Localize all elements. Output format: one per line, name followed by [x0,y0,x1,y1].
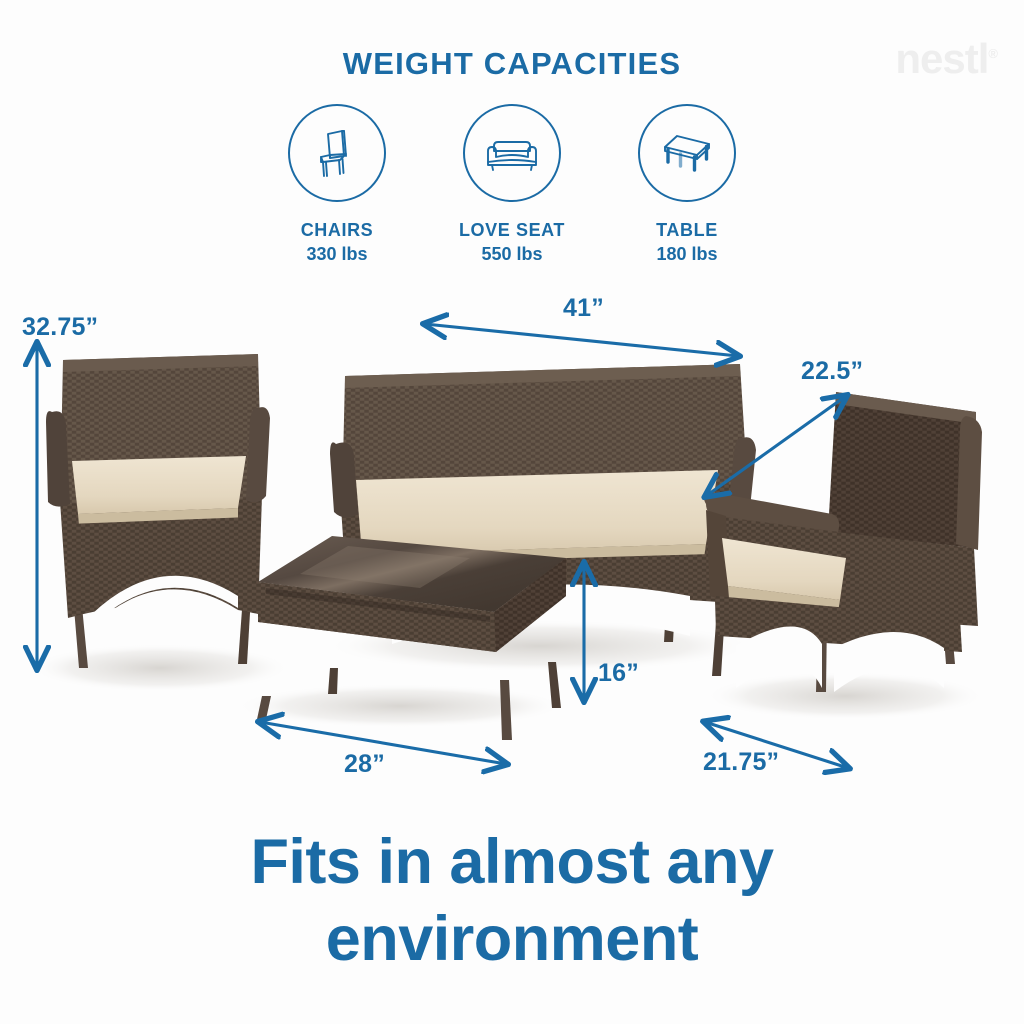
infographic-page: nestl® WEIGHT CAPACITIES [0,0,1024,1024]
capacity-value-love-seat: 550 lbs [481,242,542,266]
table-icon [638,104,736,202]
capacity-label-chairs: CHAIRS [301,219,374,242]
tagline: Fits in almost any environment [0,824,1024,978]
capacity-label-love-seat: LOVE SEAT [459,219,565,242]
capacity-item-chairs: CHAIRS 330 lbs [262,104,412,266]
dimension-label-chair-width: 21.75” [703,748,779,777]
weight-capacity-row: CHAIRS 330 lbs [262,104,762,266]
capacity-value-chairs: 330 lbs [306,242,367,266]
tagline-line-2: environment [0,901,1024,978]
dimension-label-table-width: 28” [344,750,385,779]
capacity-label-table: TABLE [656,219,718,242]
capacity-item-love-seat: LOVE SEAT 550 lbs [437,104,587,266]
product-scene [0,296,1024,816]
tagline-line-1: Fits in almost any [0,824,1024,901]
dimension-label-table-height: 16” [598,659,639,688]
right-chair [704,392,982,692]
capacity-value-table: 180 lbs [656,242,717,266]
dimension-label-chair-depth: 22.5” [801,357,863,386]
chair-icon [288,104,386,202]
left-chair [46,354,270,668]
love-seat-icon [463,104,561,202]
dimension-label-love-seat-width: 41” [563,294,604,323]
dim-arrow-width [425,324,738,356]
capacity-item-table: TABLE 180 lbs [612,104,762,266]
page-title: WEIGHT CAPACITIES [0,46,1024,82]
dimension-label-chair-height: 32.75” [22,313,98,342]
